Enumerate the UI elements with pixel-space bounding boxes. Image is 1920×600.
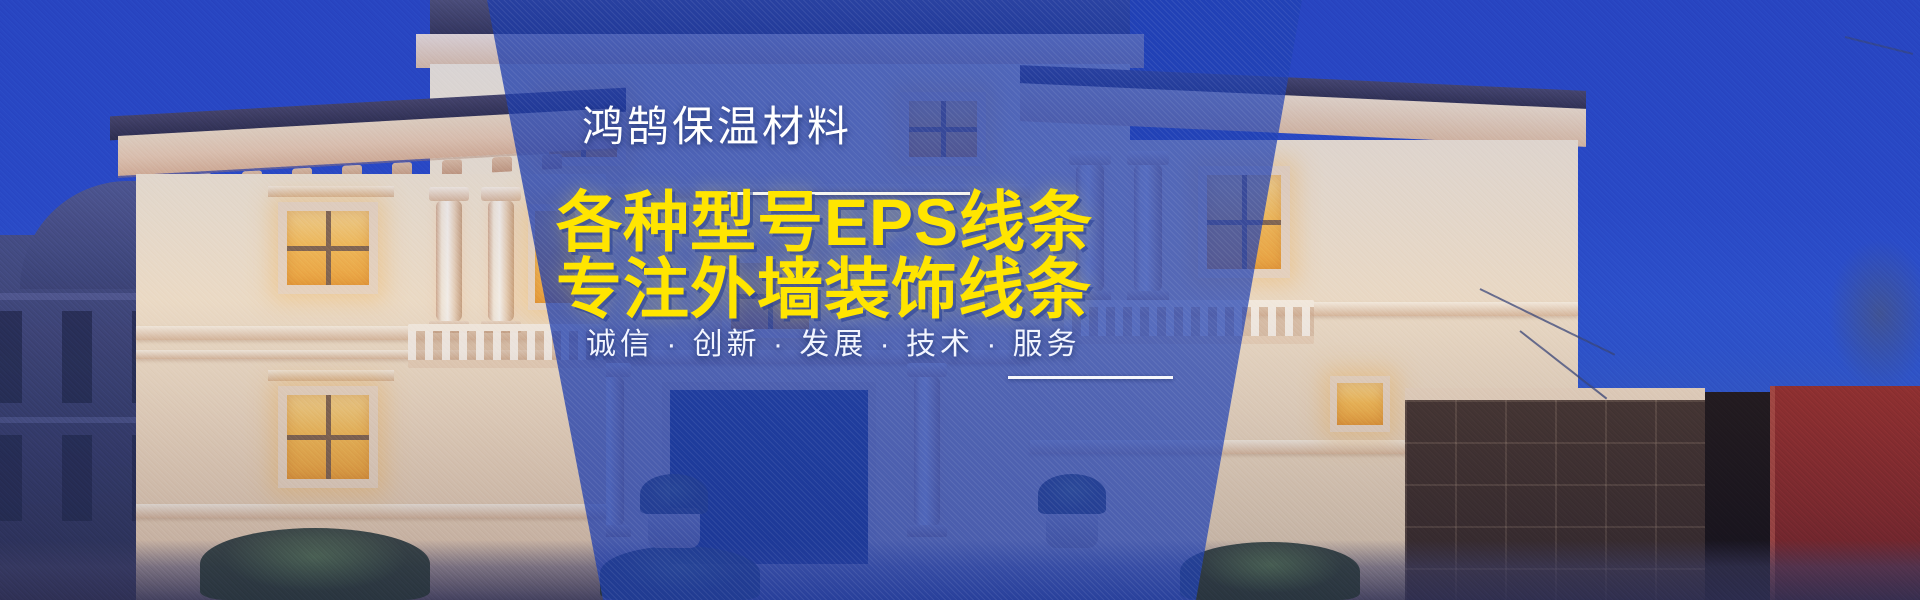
column-capital [481, 187, 521, 201]
background-tree [1820, 200, 1920, 390]
background-window [62, 435, 92, 521]
headline-line-1: 各种型号EPS线条 [556, 189, 1093, 255]
window-mullion-h [287, 246, 369, 251]
hero-banner: 鸿鹄保温材料 各种型号EPS线条 专注外墙装饰线条 诚信 · 创新 · 发展 ·… [0, 0, 1920, 600]
background-window [0, 435, 22, 521]
villa-window [1330, 376, 1390, 432]
tagline: 诚信 · 创新 · 发展 · 技术 · 服务 [586, 330, 1081, 360]
divider-bottom [1008, 376, 1173, 379]
band-course [136, 504, 606, 518]
window-hood [268, 370, 394, 381]
dentil [492, 156, 512, 172]
background-window [62, 311, 92, 403]
background-window [0, 311, 22, 403]
shrub [1180, 542, 1360, 600]
window-mullion-h [287, 435, 369, 440]
shrub [200, 528, 430, 600]
headline-line-2: 专注外墙装饰线条 [556, 256, 1092, 322]
window-hood [268, 186, 394, 197]
villa-window [278, 386, 378, 488]
column-capital [429, 187, 469, 201]
villa-window [278, 202, 378, 294]
dentil [442, 159, 462, 175]
villa-column [488, 200, 514, 322]
brand-name: 鸿鹄保温材料 [582, 106, 852, 148]
villa-column [436, 200, 462, 322]
